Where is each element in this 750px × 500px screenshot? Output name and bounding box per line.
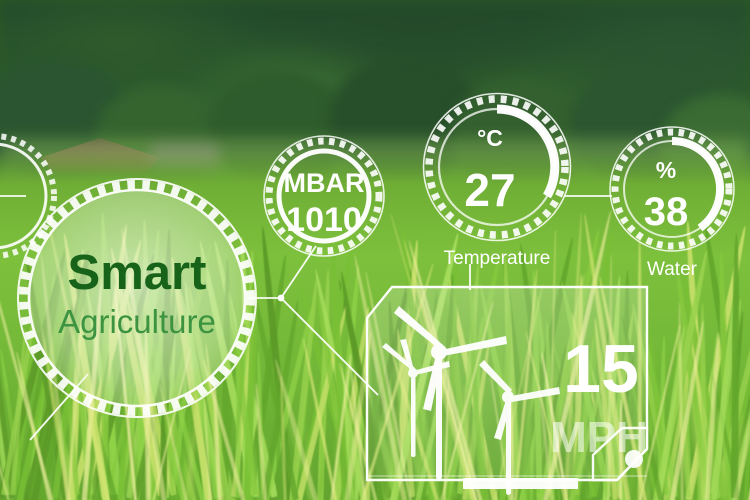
- wind-panel[interactable]: 15 MPH: [367, 287, 648, 495]
- connector-node: [278, 295, 285, 302]
- gauge-water[interactable]: % 38 Water: [610, 127, 734, 280]
- wind-value: 15: [563, 331, 639, 407]
- temp-label: Temperature: [444, 248, 551, 269]
- smart-title-line1: Smart: [68, 246, 207, 300]
- wind-bottom-bar: [463, 478, 578, 489]
- water-label: Water: [647, 259, 698, 280]
- gauge-pressure[interactable]: MBAR 1010: [264, 136, 384, 256]
- water-value: 38: [644, 190, 689, 234]
- water-unit: %: [656, 157, 676, 183]
- wind-status-dot: [625, 450, 643, 468]
- smart-agriculture-badge[interactable]: Smart Agriculture: [18, 179, 256, 417]
- gauge-temperature[interactable]: °C 27 Temperature: [424, 94, 571, 270]
- hud-graphics: Smart Agriculture MBAR 1010 °C 27 Temper…: [0, 0, 750, 500]
- hud-overlay: Smart Agriculture MBAR 1010 °C 27 Temper…: [0, 0, 750, 500]
- smart-title-line2: Agriculture: [58, 303, 216, 340]
- connector-node-wind: [281, 298, 378, 395]
- temp-value: 27: [464, 164, 515, 216]
- pressure-unit: MBAR: [284, 168, 365, 198]
- pressure-value: 1010: [286, 201, 362, 239]
- temp-unit: °C: [477, 125, 503, 151]
